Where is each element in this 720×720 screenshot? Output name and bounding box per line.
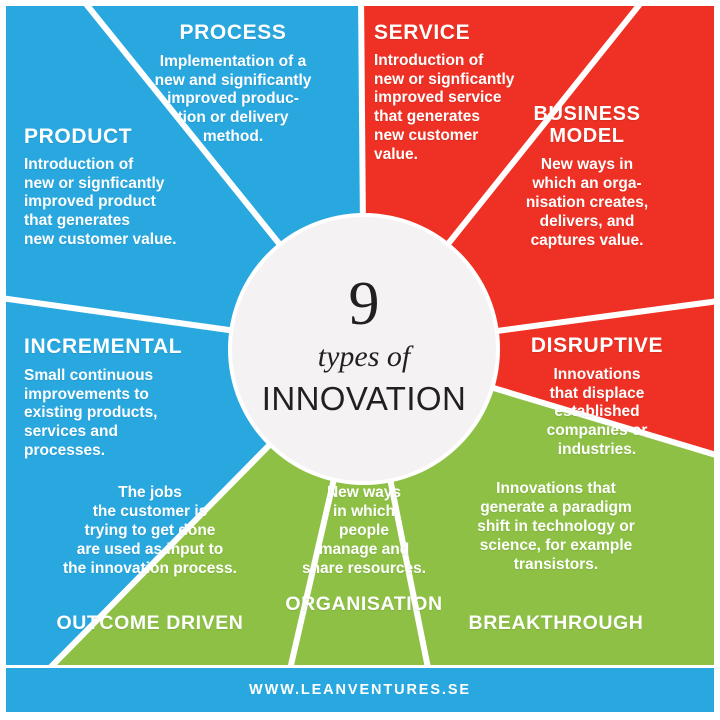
line: The jobs bbox=[26, 484, 274, 503]
segment-outcome-driven-body: The jobs the customer is trying to get d… bbox=[26, 484, 274, 579]
line: transistors. bbox=[432, 556, 680, 575]
line: New ways bbox=[282, 484, 446, 503]
segment-disruptive-heading: DISRUPTIVE bbox=[496, 335, 698, 358]
segment-incremental-heading: INCREMENTAL bbox=[24, 336, 244, 359]
line: generate a paradigm bbox=[432, 499, 680, 518]
line: captures value. bbox=[480, 232, 694, 251]
line: new or signficantly bbox=[374, 71, 584, 90]
line: services and bbox=[24, 423, 244, 442]
line: improved product bbox=[24, 193, 244, 212]
segment-organisation-heading: ORGANISATION bbox=[282, 594, 446, 615]
line: industries. bbox=[496, 441, 698, 460]
segment-organisation-body: New ways in which people manage and shar… bbox=[282, 484, 446, 579]
segment-breakthrough[interactable]: Innovations that generate a paradigm shi… bbox=[432, 480, 680, 634]
line: Introduction of bbox=[374, 52, 584, 71]
line: established bbox=[496, 403, 698, 422]
line: new customer value. bbox=[24, 231, 244, 250]
segment-process-heading: PROCESS bbox=[118, 22, 348, 45]
center-subtitle: types of bbox=[318, 342, 410, 372]
line: improvements to bbox=[24, 386, 244, 405]
line: nisation creates, bbox=[480, 194, 694, 213]
segment-disruptive-body: Innovations that displace established co… bbox=[496, 366, 698, 461]
line: companies or bbox=[496, 422, 698, 441]
center-title: INNOVATION bbox=[262, 382, 466, 415]
segment-product-body: Introduction of new or signficantly impr… bbox=[24, 156, 244, 251]
footer-bar[interactable]: WWW.LEANVENTURES.SE bbox=[6, 665, 714, 712]
center-number: 9 bbox=[349, 277, 380, 333]
segment-incremental[interactable]: INCREMENTAL Small continuous improvement… bbox=[24, 336, 244, 461]
segment-outcome-driven-heading: OUTCOME DRIVEN bbox=[26, 613, 274, 634]
line: shift in technology or bbox=[432, 518, 680, 537]
line: in which bbox=[282, 503, 446, 522]
line: that generates bbox=[24, 212, 244, 231]
line: the customer is bbox=[26, 503, 274, 522]
line: people bbox=[282, 522, 446, 541]
segment-disruptive[interactable]: DISRUPTIVE Innovations that displace est… bbox=[496, 335, 698, 460]
line: new or signficantly bbox=[24, 175, 244, 194]
line: processes. bbox=[24, 442, 244, 461]
segment-service-heading: SERVICE bbox=[374, 22, 584, 45]
segment-breakthrough-body: Innovations that generate a paradigm shi… bbox=[432, 480, 680, 575]
segment-product-heading: PRODUCT bbox=[24, 126, 244, 149]
line: science, for example bbox=[432, 537, 680, 556]
segment-business-model-body: New ways in which an orga- nisation crea… bbox=[480, 156, 694, 251]
segment-product[interactable]: PRODUCT Introduction of new or signfican… bbox=[24, 126, 244, 250]
segment-business-model-heading: BUSINESS MODEL bbox=[480, 104, 694, 147]
line: new and significantly bbox=[118, 72, 348, 91]
line: Small continuous bbox=[24, 367, 244, 386]
line: are used as input to bbox=[26, 541, 274, 560]
line: Introduction of bbox=[24, 156, 244, 175]
footer-url[interactable]: WWW.LEANVENTURES.SE bbox=[249, 682, 471, 698]
line: the innovation process. bbox=[26, 560, 274, 579]
line: share resources. bbox=[282, 560, 446, 579]
line: delivers, and bbox=[480, 213, 694, 232]
line: improved produc- bbox=[118, 90, 348, 109]
line: manage and bbox=[282, 541, 446, 560]
line: New ways in bbox=[480, 156, 694, 175]
line: Innovations bbox=[496, 366, 698, 385]
line: which an orga- bbox=[480, 175, 694, 194]
line: trying to get done bbox=[26, 522, 274, 541]
line: Innovations that bbox=[432, 480, 680, 499]
line: BUSINESS bbox=[480, 104, 694, 126]
segment-breakthrough-heading: BREAKTHROUGH bbox=[432, 613, 680, 634]
segment-outcome-driven[interactable]: The jobs the customer is trying to get d… bbox=[26, 484, 274, 634]
infographic-poster: 9 types of INNOVATION PROCESS Implementa… bbox=[0, 0, 720, 720]
segment-organisation[interactable]: New ways in which people manage and shar… bbox=[282, 484, 446, 615]
line: that displace bbox=[496, 385, 698, 404]
line: MODEL bbox=[480, 126, 694, 148]
line: existing products, bbox=[24, 404, 244, 423]
line: Implementation of a bbox=[118, 53, 348, 72]
segment-business-model[interactable]: BUSINESS MODEL New ways in which an orga… bbox=[480, 104, 694, 251]
center-medallion: 9 types of INNOVATION bbox=[232, 217, 496, 481]
segment-incremental-body: Small continuous improvements to existin… bbox=[24, 367, 244, 462]
